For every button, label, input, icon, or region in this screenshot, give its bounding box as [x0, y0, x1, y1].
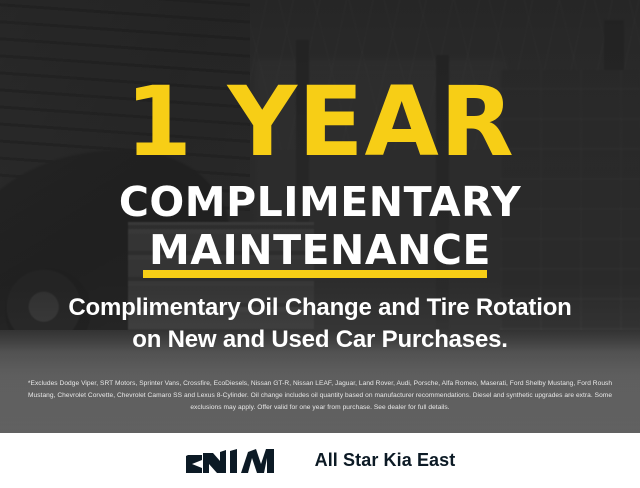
- disclaimer-text: *Excludes Dodge Viper, SRT Motors, Sprin…: [14, 378, 626, 415]
- offer-line-2: on New and Used Car Purchases.: [0, 324, 640, 356]
- banner-content: 1 YEAR COMPLIMENTARY MAINTENANCE Complim…: [0, 0, 640, 488]
- promotional-banner: 1 YEAR COMPLIMENTARY MAINTENANCE Complim…: [0, 0, 640, 488]
- offer-description: Complimentary Oil Change and Tire Rotati…: [0, 292, 640, 357]
- headline-year: 1 YEAR: [0, 74, 640, 170]
- offer-line-1: Complimentary Oil Change and Tire Rotati…: [68, 294, 571, 321]
- kia-logo: [185, 448, 291, 474]
- headline-subtitle-line-1: COMPLIMENTARY: [119, 178, 521, 226]
- headline-subtitle-line-2: MAINTENANCE: [0, 226, 640, 274]
- yellow-divider-bar: [143, 270, 487, 278]
- dealer-footer: All Star Kia East: [0, 433, 640, 488]
- dealer-name: All Star Kia East: [315, 450, 456, 471]
- headline-subtitle: COMPLIMENTARY MAINTENANCE: [0, 178, 640, 275]
